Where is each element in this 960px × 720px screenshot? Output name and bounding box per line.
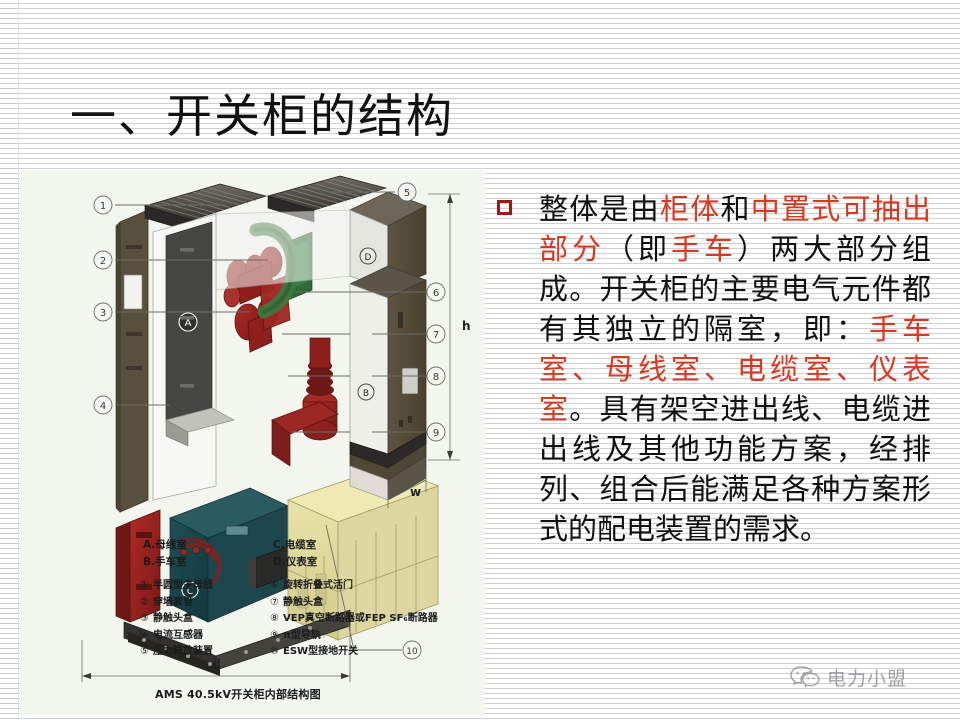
part-number: ① xyxy=(140,578,153,595)
svg-text:9: 9 xyxy=(433,428,439,439)
parts-legend-right: ⑥旋转折叠式活门 ⑦静触头盒 ⑧VEP真空断路器或FEP SF₆断路器 ⑨π型导… xyxy=(270,578,438,661)
part-label: ESW型接地开关 xyxy=(283,646,358,657)
part-item-10: ⑩ESW型接地开关 xyxy=(270,644,438,661)
part-label: 压力释放装置 xyxy=(153,646,213,657)
parts-legend-left: ①半圆型主母线 ②穿墙套管 ③静触头盒 ④电流互感器 ⑤压力释放装置 xyxy=(140,578,213,661)
svg-text:h: h xyxy=(462,319,471,333)
compartment-item-A: A.母线室 xyxy=(143,537,187,554)
svg-text:7: 7 xyxy=(433,330,439,341)
part-label: 半圆型主母线 xyxy=(153,580,213,591)
body-text-segment-8: 。具有架空进出线、电缆进出线及其他功能方案，经排列、组合后能满足各种方案形式的配… xyxy=(539,394,931,546)
compartment-legend-left: A.母线室 B.手车室 xyxy=(143,537,187,571)
svg-text:2: 2 xyxy=(100,256,106,267)
part-number: ⑥ xyxy=(270,578,283,595)
svg-text:w: w xyxy=(410,485,421,499)
svg-text:5: 5 xyxy=(404,188,410,199)
body-text-segment-1: 柜体 xyxy=(660,194,721,226)
part-item-1: ①半圆型主母线 xyxy=(140,578,213,595)
part-item-5: ⑤压力释放装置 xyxy=(140,644,213,661)
part-item-4: ④电流互感器 xyxy=(140,628,213,645)
compartment-item-C: C.电缆室 xyxy=(273,537,317,554)
part-number: ⑦ xyxy=(270,595,283,612)
part-label: π型导轨 xyxy=(283,630,321,641)
part-number: ⑧ xyxy=(270,611,283,628)
watermark: 电力小盟 xyxy=(790,660,940,694)
part-label: 穿墙套管 xyxy=(153,597,193,608)
compartment-item-D: D.仪表室 xyxy=(273,554,317,571)
watermark-label: 电力小盟 xyxy=(827,664,907,691)
svg-text:1: 1 xyxy=(100,201,106,212)
figure-panel: A xyxy=(20,170,485,715)
part-item-6: ⑥旋转折叠式活门 xyxy=(270,578,438,595)
part-number: ② xyxy=(140,595,153,612)
svg-text:8: 8 xyxy=(433,372,439,383)
part-item-7: ⑦静触头盒 xyxy=(270,595,438,612)
part-number: ⑤ xyxy=(140,644,153,661)
part-number: ③ xyxy=(140,611,153,628)
body-paragraph: 整体是由柜体和中置式可抽出部分（即手车）两大部分组成。开关柜的主要电气元件都有其… xyxy=(539,190,931,550)
left-rail-decoration xyxy=(0,0,19,720)
body-text-segment-2: 和 xyxy=(720,194,750,226)
body-text-segment-5: 手车 xyxy=(671,234,737,266)
square-outline-icon xyxy=(497,200,512,215)
part-item-3: ③静触头盒 xyxy=(140,611,213,628)
page-title: 一、开关柜的结构 xyxy=(70,88,454,146)
svg-text:d: d xyxy=(212,657,221,671)
compartment-legend-right: C.电缆室 D.仪表室 xyxy=(273,537,317,571)
wechat-icon xyxy=(790,665,820,689)
part-label: VEP真空断路器或FEP SF₆断路器 xyxy=(283,613,438,624)
svg-text:3: 3 xyxy=(100,308,106,319)
part-item-9: ⑨π型导轨 xyxy=(270,628,438,645)
part-label: 电流互感器 xyxy=(153,630,203,641)
part-number: ④ xyxy=(140,628,153,645)
part-number: ⑩ xyxy=(270,644,283,661)
figure-caption: AMS 40.5kV开关柜内部结构图 xyxy=(155,686,321,702)
body-text-segment-4: （即 xyxy=(605,234,671,266)
part-label: 静触头盒 xyxy=(283,597,323,608)
slide-canvas: 一、开关柜的结构 xyxy=(0,0,960,720)
svg-text:A: A xyxy=(185,318,192,329)
body-text-segment-0: 整体是由 xyxy=(539,194,660,226)
part-label: 静触头盒 xyxy=(153,613,193,624)
part-item-8: ⑧VEP真空断路器或FEP SF₆断路器 xyxy=(270,611,438,628)
svg-text:D: D xyxy=(365,253,372,263)
part-item-2: ②穿墙套管 xyxy=(140,595,213,612)
part-number: ⑨ xyxy=(270,628,283,645)
svg-text:B: B xyxy=(363,389,369,399)
compartment-item-B: B.手车室 xyxy=(143,554,187,571)
part-label: 旋转折叠式活门 xyxy=(283,580,353,591)
svg-text:4: 4 xyxy=(100,401,106,412)
svg-text:6: 6 xyxy=(433,288,439,299)
